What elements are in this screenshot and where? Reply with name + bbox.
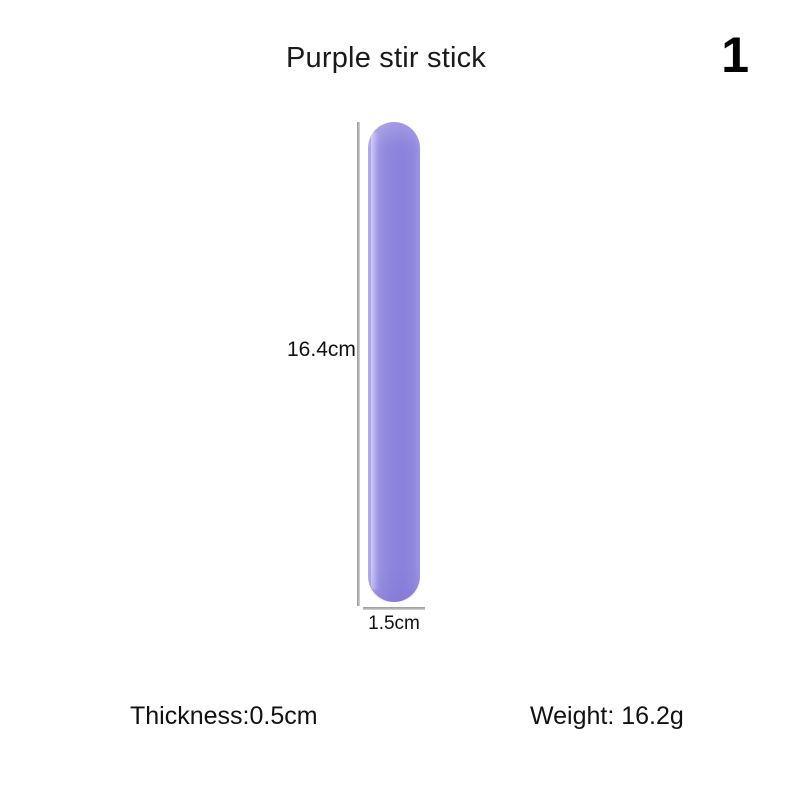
width-measurement-line [363,607,425,610]
stir-stick-body [368,122,420,602]
weight-spec-label: Weight: 16.2g [530,702,684,731]
height-measurement-line [357,122,360,606]
width-dimension-label: 1.5cm [363,613,425,635]
height-dimension-label: 16.4cm [287,338,356,362]
page-title: Purple stir stick [0,42,772,75]
product-spec-image: Purple stir stick 1 16.4cm 1.5cm Thickne… [0,0,800,800]
image-index-badge: 1 [721,30,748,80]
thickness-spec-label: Thickness:0.5cm [130,702,318,731]
